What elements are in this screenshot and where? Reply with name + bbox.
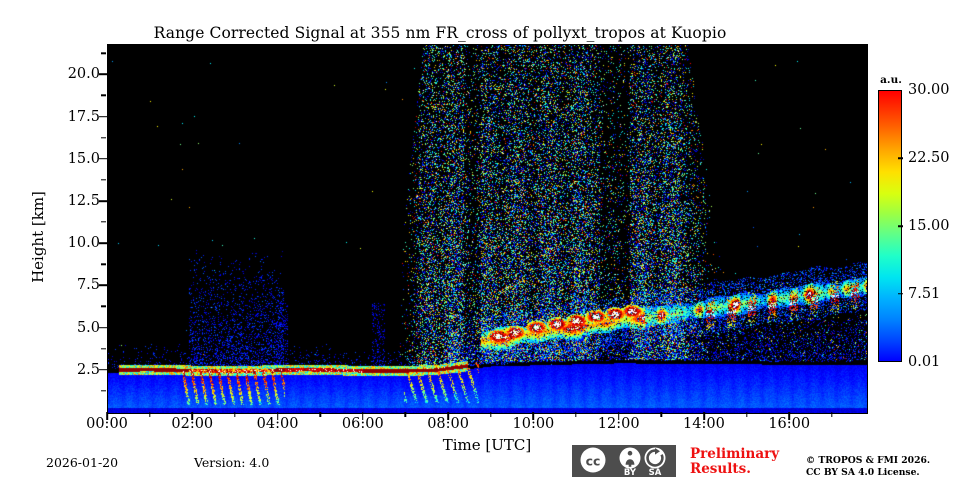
copyright-notice: © TROPOS & FMI 2026. CC BY SA 4.0 Licens… bbox=[806, 455, 956, 480]
x-axis-minor-tick bbox=[661, 412, 662, 417]
x-axis-tick-mark bbox=[106, 412, 108, 420]
colorbar-tick-label: 15.00 bbox=[908, 218, 950, 234]
footer-date: 2026-01-20 bbox=[46, 455, 118, 470]
colorbar-tick-mark bbox=[898, 225, 903, 227]
x-axis-tick-mark bbox=[618, 412, 620, 420]
x-axis-minor-tick bbox=[149, 412, 150, 417]
x-axis-tick-mark bbox=[703, 412, 705, 420]
cc-by-sa-badge-icon[interactable]: cc BY SA bbox=[572, 445, 676, 477]
x-axis: 00:0002:0004:0006:0008:0010:0012:0014:00… bbox=[0, 0, 960, 480]
lidar-quicklook-figure: Range Corrected Signal at 355 nm FR_cros… bbox=[0, 0, 960, 480]
colorbar-tick-mark bbox=[898, 157, 903, 159]
colorbar-tick-label: 30.00 bbox=[908, 82, 950, 98]
badge-by-label: BY bbox=[624, 468, 637, 477]
x-axis-tick-mark bbox=[533, 412, 535, 420]
x-axis-tick-mark bbox=[362, 412, 364, 420]
x-axis-minor-tick bbox=[319, 412, 320, 417]
x-axis-minor-tick bbox=[405, 412, 406, 417]
preliminary-results-notice: Preliminary Results. bbox=[690, 447, 810, 477]
x-axis-tick-mark bbox=[788, 412, 790, 420]
x-axis-minor-tick bbox=[831, 412, 832, 417]
colorbar-tick-mark bbox=[898, 293, 903, 295]
badge-sa-label: SA bbox=[649, 468, 662, 477]
x-axis-tick-mark bbox=[191, 412, 193, 420]
x-axis-tick-mark bbox=[447, 412, 449, 420]
x-axis-minor-tick bbox=[746, 412, 747, 417]
colorbar-tick-label: 7.51 bbox=[908, 286, 940, 302]
footer-version: Version: 4.0 bbox=[194, 455, 269, 470]
x-axis-tick-mark bbox=[277, 412, 279, 420]
copyright-line-1: © TROPOS & FMI 2026. bbox=[806, 455, 956, 467]
colorbar-unit-label: a.u. bbox=[874, 74, 908, 86]
preliminary-line-1: Preliminary bbox=[690, 447, 810, 462]
colorbar-tick-label: 22.50 bbox=[908, 150, 950, 166]
svg-text:cc: cc bbox=[586, 454, 601, 469]
preliminary-line-2: Results. bbox=[690, 462, 810, 477]
x-axis-minor-tick bbox=[234, 412, 235, 417]
x-axis-minor-tick bbox=[490, 412, 491, 417]
colorbar-tick-label: 0.01 bbox=[908, 354, 940, 370]
x-axis-minor-tick bbox=[575, 412, 576, 417]
copyright-line-2: CC BY SA 4.0 License. bbox=[806, 467, 956, 479]
